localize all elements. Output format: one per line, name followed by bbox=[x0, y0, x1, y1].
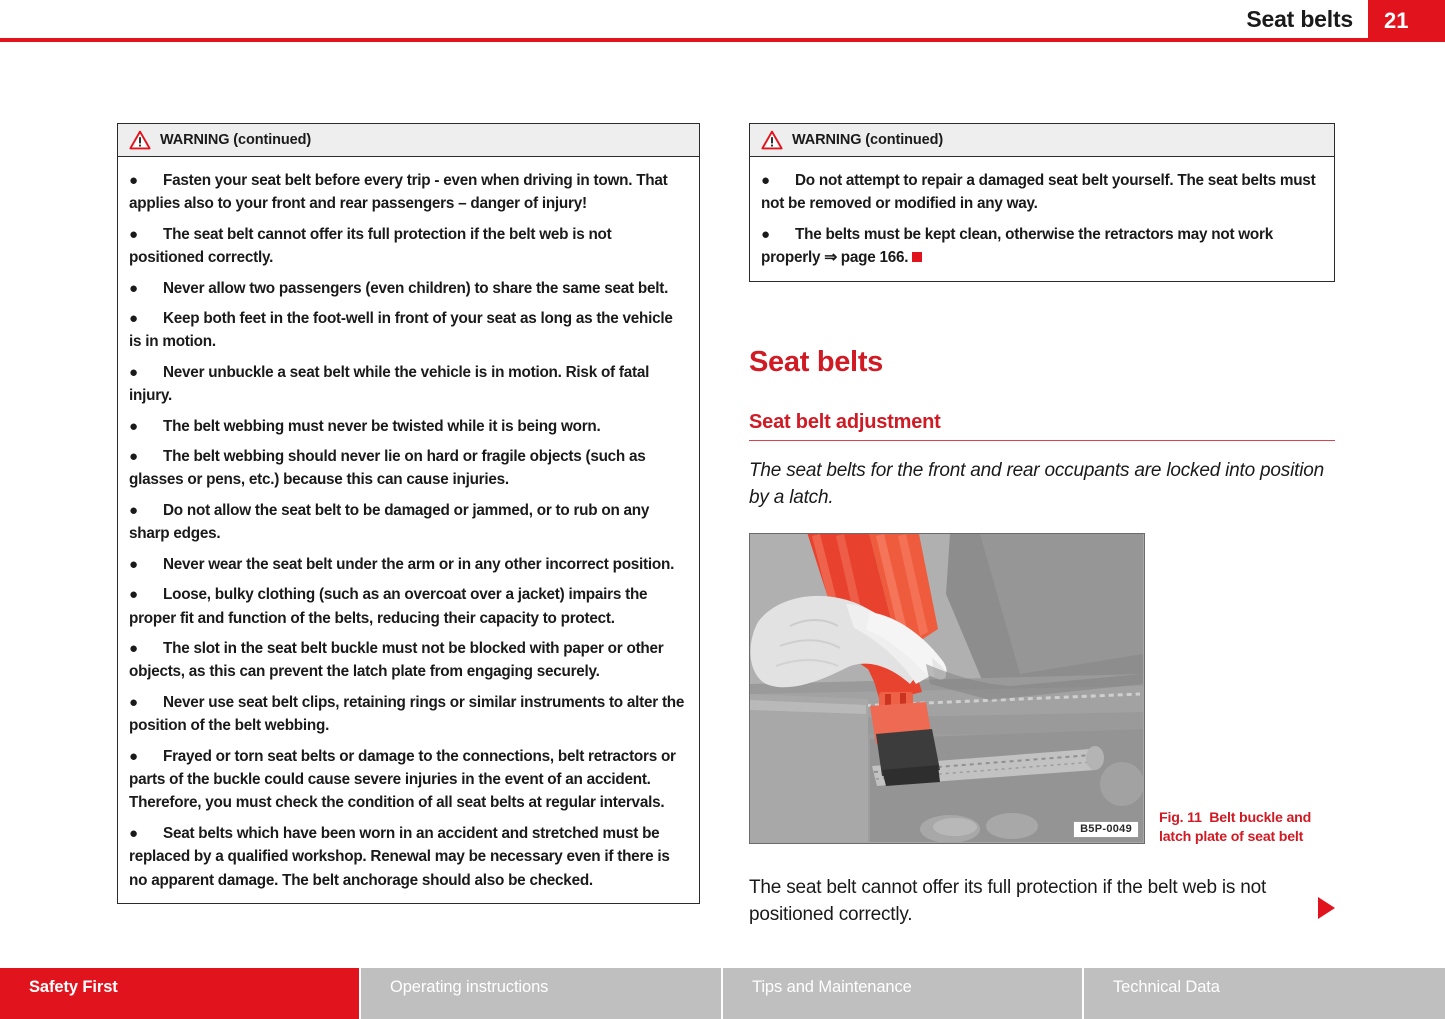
warning-body-left: ●Fasten your seat belt before every trip… bbox=[118, 157, 699, 903]
section-title: Seat belts bbox=[749, 346, 1335, 379]
footer-tab-tips-and-maintenance[interactable]: Tips and Maintenance bbox=[723, 968, 1084, 1019]
warning-body-right: ●Do not attempt to repair a damaged seat… bbox=[750, 157, 1334, 281]
manual-page: Seat belts 21 WARNING (continued) ●Faste… bbox=[0, 0, 1445, 1019]
bullet-icon: ● bbox=[129, 583, 163, 606]
warning-triangle-icon bbox=[761, 130, 783, 150]
bullet-icon: ● bbox=[129, 822, 163, 845]
warning-item: ●Frayed or torn seat belts or damage to … bbox=[129, 745, 688, 815]
figure-block: B5P-0049 Fig. 11 Belt buckle and latch p… bbox=[749, 533, 1335, 844]
bullet-icon: ● bbox=[761, 223, 795, 246]
bullet-icon: ● bbox=[129, 445, 163, 468]
figure-number: Fig. 11 bbox=[1159, 810, 1202, 826]
bullet-icon: ● bbox=[129, 745, 163, 768]
page-number: 21 bbox=[1384, 8, 1408, 34]
page-title: Seat belts bbox=[1246, 6, 1353, 33]
bullet-icon: ● bbox=[129, 415, 163, 438]
figure-illustration: B5P-0049 bbox=[749, 533, 1145, 844]
bullet-icon: ● bbox=[129, 307, 163, 330]
warning-item: ●Do not attempt to repair a damaged seat… bbox=[761, 169, 1323, 216]
warning-item-text: The belt webbing must never be twisted w… bbox=[163, 418, 601, 435]
warning-item: ●The belt webbing should never lie on ha… bbox=[129, 445, 688, 492]
warning-box-header: WARNING (continued) bbox=[118, 124, 699, 157]
warning-item: ●Never use seat belt clips, retaining ri… bbox=[129, 691, 688, 738]
warning-header-label: WARNING (continued) bbox=[160, 132, 311, 148]
warning-item: ●Never unbuckle a seat belt while the ve… bbox=[129, 361, 688, 408]
warning-item-text: Frayed or torn seat belts or damage to t… bbox=[129, 748, 676, 812]
subsection-red-rule bbox=[749, 440, 1335, 442]
intro-paragraph: The seat belts for the front and rear oc… bbox=[749, 457, 1335, 511]
warning-item-text: Never use seat belt clips, retaining rin… bbox=[129, 694, 684, 734]
bullet-icon: ● bbox=[129, 223, 163, 246]
subsection-title: Seat belt adjustment bbox=[749, 411, 1335, 434]
warning-item: ●Loose, bulky clothing (such as an overc… bbox=[129, 583, 688, 630]
after-figure-block: The seat belt cannot offer its full prot… bbox=[749, 874, 1335, 928]
footer-tab-bar: Safety First Operating instructions Tips… bbox=[0, 968, 1445, 1019]
warning-item: ●Never allow two passengers (even childr… bbox=[129, 277, 688, 300]
bullet-icon: ● bbox=[129, 637, 163, 660]
warning-header-label: WARNING (continued) bbox=[792, 132, 943, 148]
bullet-icon: ● bbox=[129, 553, 163, 576]
page-reference-link[interactable]: ⇒ page 166. bbox=[824, 249, 908, 266]
warning-item-with-reference: ●The belts must be kept clean, otherwise… bbox=[761, 223, 1323, 270]
footer-tab-safety-first[interactable]: Safety First bbox=[0, 968, 361, 1019]
page-number-block: 21 bbox=[1368, 0, 1445, 42]
warning-item: ●The belt webbing must never be twisted … bbox=[129, 415, 688, 438]
header-red-rule bbox=[0, 38, 1368, 42]
seat-belt-buckle-illustration bbox=[750, 534, 1143, 842]
warning-item-text: Seat belts which have been worn in an ac… bbox=[129, 825, 670, 889]
bullet-icon: ● bbox=[761, 169, 795, 192]
warning-item: ●Seat belts which have been worn in an a… bbox=[129, 822, 688, 892]
warning-item: ●Do not allow the seat belt to be damage… bbox=[129, 499, 688, 546]
footer-tab-operating-instructions[interactable]: Operating instructions bbox=[361, 968, 723, 1019]
warning-item: ●The seat belt cannot offer its full pro… bbox=[129, 223, 688, 270]
warning-box-left: WARNING (continued) ●Fasten your seat be… bbox=[117, 123, 700, 904]
page-header: Seat belts 21 bbox=[0, 0, 1445, 42]
warning-item-text: Never allow two passengers (even childre… bbox=[163, 280, 668, 297]
bullet-icon: ● bbox=[129, 499, 163, 522]
warning-item: ●Fasten your seat belt before every trip… bbox=[129, 169, 688, 216]
footer-tab-technical-data[interactable]: Technical Data bbox=[1084, 968, 1445, 1019]
left-column: WARNING (continued) ●Fasten your seat be… bbox=[117, 123, 700, 904]
continue-arrow-icon[interactable] bbox=[1318, 897, 1335, 919]
red-square-end-marker bbox=[912, 252, 922, 262]
warning-item-text: Fasten your seat belt before every trip … bbox=[129, 172, 668, 212]
bullet-icon: ● bbox=[129, 169, 163, 192]
figure-caption: Fig. 11 Belt buckle and latch plate of s… bbox=[1159, 809, 1335, 847]
warning-triangle-icon bbox=[129, 130, 151, 150]
warning-item: ●Never wear the seat belt under the arm … bbox=[129, 553, 688, 576]
warning-item-text: Keep both feet in the foot-well in front… bbox=[129, 310, 673, 350]
warning-item-text: The slot in the seat belt buckle must no… bbox=[129, 640, 663, 680]
warning-item-text: The belt webbing should never lie on har… bbox=[129, 448, 646, 488]
body-paragraph: The seat belt cannot offer its full prot… bbox=[749, 874, 1294, 928]
figure-id-label: B5P-0049 bbox=[1073, 821, 1139, 838]
warning-item: ●Keep both feet in the foot-well in fron… bbox=[129, 307, 688, 354]
warning-item-text: Do not allow the seat belt to be damaged… bbox=[129, 502, 649, 542]
bullet-icon: ● bbox=[129, 277, 163, 300]
warning-item-text: Do not attempt to repair a damaged seat … bbox=[761, 172, 1315, 212]
warning-box-header: WARNING (continued) bbox=[750, 124, 1334, 157]
warning-item-text: Loose, bulky clothing (such as an overco… bbox=[129, 586, 647, 626]
warning-item-text: The seat belt cannot offer its full prot… bbox=[129, 226, 611, 266]
bullet-icon: ● bbox=[129, 361, 163, 384]
warning-item-text: Never wear the seat belt under the arm o… bbox=[163, 556, 674, 573]
right-column: WARNING (continued) ●Do not attempt to r… bbox=[749, 123, 1335, 928]
warning-item: ●The slot in the seat belt buckle must n… bbox=[129, 637, 688, 684]
bullet-icon: ● bbox=[129, 691, 163, 714]
warning-item-text: Never unbuckle a seat belt while the veh… bbox=[129, 364, 649, 404]
warning-box-right: WARNING (continued) ●Do not attempt to r… bbox=[749, 123, 1335, 282]
